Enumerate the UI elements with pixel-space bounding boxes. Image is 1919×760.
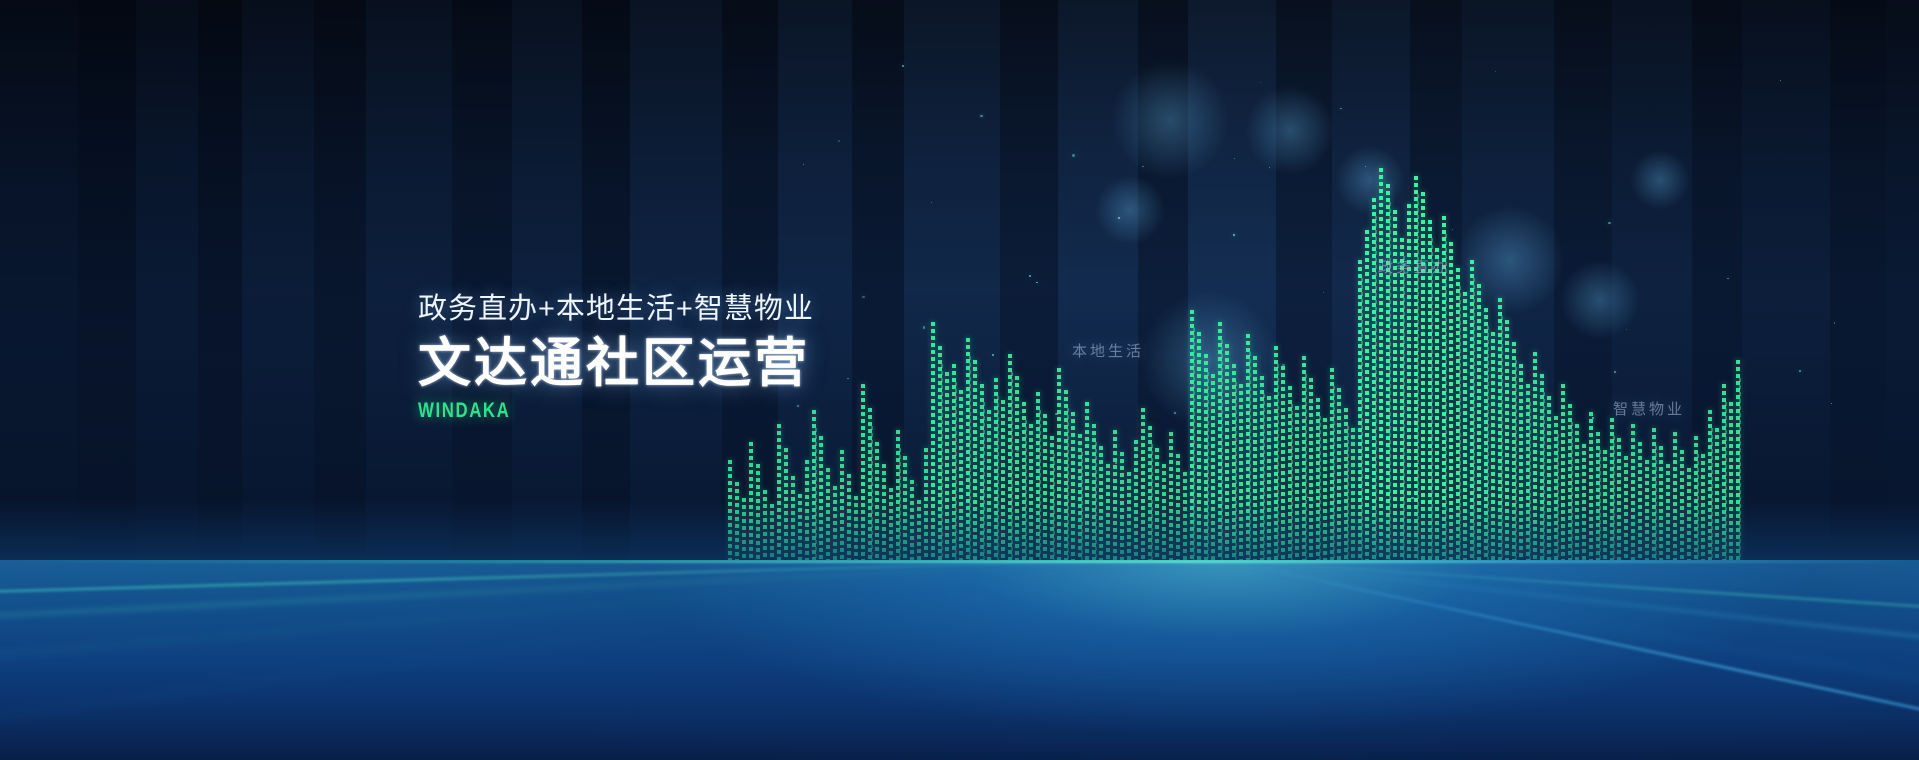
hero-text-block: 政务直办+本地生活+智慧物业 文达通社区运营 WINDAKA	[418, 292, 814, 423]
skyline-bar	[910, 480, 914, 560]
skyline-bar	[1431, 238, 1433, 560]
skyline-bar	[1267, 396, 1271, 560]
skyline-bar	[1011, 372, 1013, 560]
skyline-bar	[1263, 394, 1265, 560]
skyline-bar	[1162, 464, 1166, 560]
skyline-bar	[1617, 438, 1621, 560]
skyline-bar	[861, 384, 865, 560]
particle-dot	[1608, 222, 1611, 225]
skyline-bar	[997, 396, 999, 560]
skyline-bar	[1239, 384, 1243, 560]
skyline-bar	[1729, 402, 1733, 560]
skyline-bar	[1375, 216, 1377, 560]
skyline-bar	[1347, 426, 1349, 560]
particle-dot	[1411, 497, 1414, 500]
skyline-bar	[1106, 464, 1110, 560]
skyline-bar	[1015, 376, 1019, 560]
skyline-bar	[1141, 408, 1145, 560]
skyline-bar	[1225, 344, 1229, 560]
skyline-bar	[882, 464, 886, 560]
skyline-bar	[791, 476, 795, 560]
skyline-bar	[871, 426, 873, 560]
skyline-bar	[1515, 360, 1517, 560]
skyline-bar	[854, 496, 858, 560]
skyline-bar	[805, 460, 809, 560]
particle-dot	[1016, 449, 1019, 452]
skyline-bar	[826, 468, 830, 560]
skyline-bar	[1207, 372, 1209, 560]
skyline-bar	[1057, 368, 1061, 560]
skyline-bar	[1295, 406, 1299, 560]
skyline-bar	[1403, 256, 1405, 560]
hero-subtitle: 政务直办+本地生活+智慧物业	[418, 292, 814, 327]
skyline-bar	[1459, 286, 1461, 560]
skyline-bar	[1477, 284, 1481, 560]
skyline-label-1: 本地生活	[1072, 340, 1144, 361]
skyline-bar	[1095, 442, 1097, 560]
skyline-bar	[770, 504, 774, 560]
particle-dot	[902, 65, 904, 67]
skyline-bar	[903, 456, 907, 560]
perspective-floor	[0, 560, 1919, 760]
skyline-bar	[1505, 320, 1509, 560]
skyline-bar	[931, 322, 935, 560]
skyline-bar	[728, 460, 732, 560]
skyline-bar	[1463, 292, 1467, 560]
skyline-bar	[815, 428, 817, 560]
skyline-bar	[1659, 446, 1663, 560]
skyline-bar	[1151, 444, 1153, 560]
skyline-bar	[1253, 356, 1257, 560]
skyline-bar	[1449, 242, 1453, 560]
particle-dot	[923, 326, 925, 328]
skyline-bar	[763, 490, 767, 560]
particle-dot	[1275, 417, 1277, 419]
particle-dot	[1834, 322, 1835, 323]
skyline-bar	[1529, 402, 1531, 560]
skyline-bar	[1029, 424, 1033, 560]
skyline-bar	[875, 442, 879, 560]
skyline-bar	[1417, 194, 1419, 560]
skyline-bar	[847, 474, 851, 560]
skyline-bar	[1491, 332, 1495, 560]
hero-title: 文达通社区运营	[418, 336, 814, 392]
skyline-bar	[1323, 418, 1327, 560]
skyline-bar	[917, 500, 921, 560]
particle-dot	[1626, 329, 1627, 330]
skyline-bar	[1039, 410, 1041, 560]
skyline-bar	[1309, 378, 1313, 560]
skyline-bar	[1421, 192, 1425, 560]
skyline-bar	[1697, 454, 1699, 560]
skyline-bar	[969, 356, 971, 560]
skyline-bar	[1638, 442, 1642, 560]
banner-hero: 本地生活政务直办智慧物业 政务直办+本地生活+智慧物业 文达通社区运营 WIND…	[0, 0, 1919, 760]
skyline-bar	[1067, 408, 1069, 560]
skyline-bar	[1155, 448, 1159, 560]
skyline-bar	[1687, 468, 1691, 560]
skyline-bar	[1127, 472, 1131, 560]
skyline-bar	[1365, 230, 1369, 560]
skyline-bar	[941, 364, 943, 560]
skyline-bar	[1193, 328, 1195, 560]
skyline-bar	[1176, 454, 1180, 560]
skyline-bar	[1081, 452, 1083, 560]
skyline-bar	[1085, 402, 1089, 560]
skyline-bar	[1235, 382, 1237, 560]
skyline-bar	[1221, 340, 1223, 560]
skyline-bar	[1197, 332, 1201, 560]
skyline-bar	[756, 464, 760, 560]
skyline-bar	[1361, 278, 1363, 560]
skyline-bar	[1053, 454, 1055, 560]
skyline-bar	[1043, 414, 1047, 560]
skyline-bar	[955, 382, 957, 560]
particle-dot	[1072, 154, 1075, 157]
skyline-bar	[945, 372, 949, 560]
skyline-bar	[1134, 440, 1138, 560]
skyline-bar	[1473, 278, 1475, 560]
skyline-bar	[1547, 396, 1551, 560]
horizon-glow	[0, 560, 1919, 563]
skyline-bar	[1680, 450, 1684, 560]
skyline-bar	[1319, 416, 1321, 560]
particle-dot	[862, 296, 864, 298]
skyline-bar	[1281, 366, 1285, 560]
skyline-bar	[1561, 384, 1565, 560]
skyline-bar	[1351, 428, 1355, 560]
skyline-bar	[1249, 352, 1251, 560]
particle-dot	[980, 115, 983, 118]
skyline-bar	[1557, 434, 1559, 560]
particle-dot	[803, 164, 804, 165]
skyline-bar	[1120, 452, 1124, 560]
skyline-bar	[798, 494, 802, 560]
skyline-bar	[1575, 424, 1579, 560]
skyline-bar	[889, 488, 893, 560]
particle-dot	[1115, 462, 1117, 464]
skyline-label-3: 智慧物业	[1613, 398, 1685, 419]
skyline-bar	[1533, 352, 1537, 560]
skyline-bar	[1543, 392, 1545, 560]
skyline-bar	[959, 390, 963, 560]
brand-wordmark: WINDAKA	[418, 399, 735, 423]
skyline-bar	[1113, 430, 1117, 560]
skyline-bar	[1631, 424, 1635, 560]
skyline-bar	[749, 442, 753, 560]
skyline-label-2: 政务直办	[1378, 256, 1450, 277]
skyline-bar	[1715, 428, 1719, 560]
skyline-bar	[819, 436, 823, 560]
particle-dot	[992, 354, 994, 356]
skyline-bar	[1645, 460, 1649, 560]
skyline-bar	[1589, 412, 1593, 560]
skyline-bar	[1739, 378, 1741, 560]
skyline-bar	[899, 448, 901, 560]
skyline-bar	[1183, 472, 1187, 560]
skyline-bar	[1501, 316, 1503, 560]
skyline-bar	[1025, 420, 1027, 560]
dot-matrix-skyline-chart	[0, 0, 1919, 620]
skyline-bar	[1305, 374, 1307, 560]
skyline-bar	[784, 448, 788, 560]
skyline-bar	[777, 424, 781, 560]
skyline-bar	[1613, 436, 1615, 560]
skyline-bar	[1169, 432, 1173, 560]
particle-dot	[1269, 167, 1270, 168]
skyline-bar	[1701, 454, 1705, 560]
particle-dot	[1452, 229, 1453, 230]
skyline-bar	[1624, 456, 1628, 560]
skyline-bar	[983, 402, 985, 560]
skyline-bar	[1445, 234, 1447, 560]
skyline-bar	[833, 486, 837, 560]
skyline-bar	[1725, 402, 1727, 560]
skyline-bar	[1599, 450, 1601, 560]
skyline-bar	[1099, 446, 1103, 560]
skyline-bar	[1519, 364, 1523, 560]
skyline-bar	[1582, 444, 1586, 560]
skyline-bar	[1666, 464, 1670, 560]
skyline-bar	[1603, 450, 1607, 560]
skyline-bar	[1571, 422, 1573, 560]
skyline-bar	[1071, 412, 1075, 560]
skyline-bar	[1211, 374, 1215, 560]
skyline-bar	[1379, 168, 1383, 560]
skyline-bar	[742, 498, 746, 560]
skyline-bar	[840, 450, 844, 560]
skyline-bar	[987, 410, 991, 560]
skyline-bar	[1337, 388, 1341, 560]
skyline-bar	[924, 448, 928, 560]
skyline-bar	[973, 360, 977, 560]
skyline-bar	[1673, 432, 1677, 560]
skyline-bar	[1333, 386, 1335, 560]
particle-dot	[1831, 403, 1832, 404]
particle-dot	[1495, 71, 1496, 72]
skyline-bar	[1291, 404, 1293, 560]
skyline-bar	[1655, 446, 1657, 560]
skyline-bar	[1277, 364, 1279, 560]
particle-dot	[797, 405, 798, 406]
skyline-bar	[1711, 428, 1713, 560]
skyline-bar	[1487, 326, 1489, 560]
skyline-bar	[1435, 248, 1439, 560]
skyline-bar	[1001, 400, 1005, 560]
skyline-bar	[735, 482, 739, 560]
particle-dot	[1118, 217, 1120, 219]
